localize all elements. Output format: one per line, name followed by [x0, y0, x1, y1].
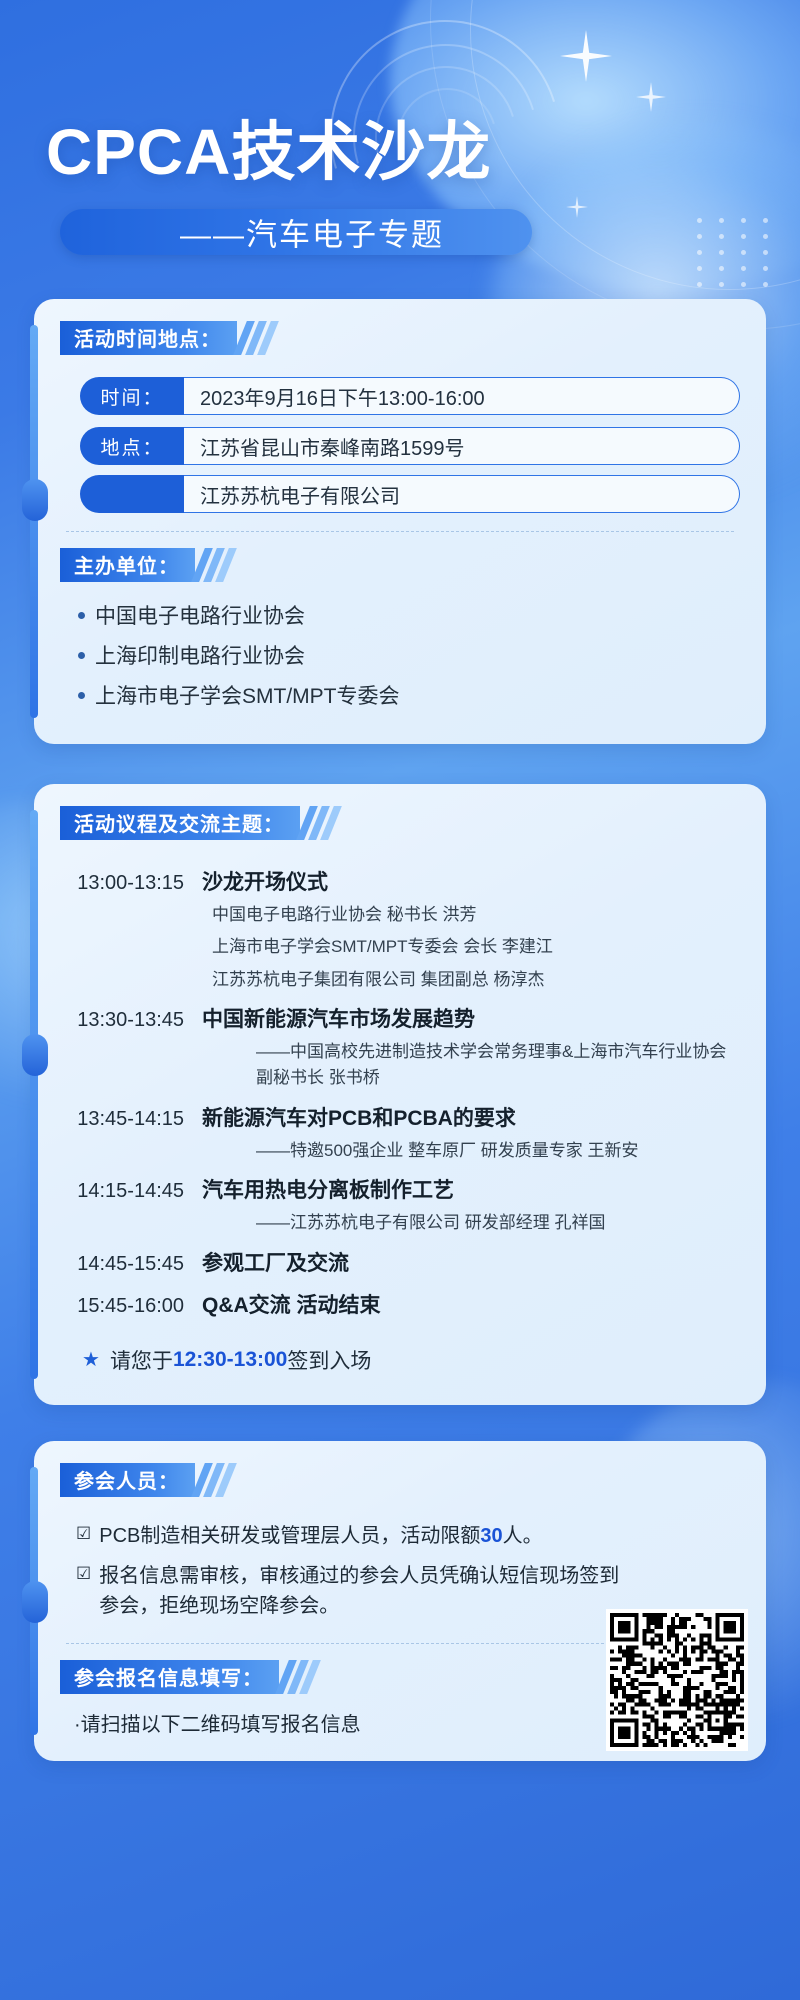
field-row-place: 地点： 江苏省昆山市秦峰南路1599号: [80, 427, 740, 465]
agenda-time: 14:45-15:45: [60, 1253, 202, 1276]
slash-decoration-icon: [240, 321, 276, 355]
card-knob: [22, 479, 48, 521]
agenda-title: 中国新能源汽车市场发展趋势: [202, 1003, 475, 1033]
slash-decoration-icon: [282, 1660, 318, 1694]
poster-root: CPCA技术沙龙 ——汽车电子专题 活动时间地点： 时间： 2023年9月16日…: [0, 0, 800, 2000]
agenda-list: 13:00-13:15 沙龙开场仪式 中国电子电路行业协会 秘书长 洪芳 上海市…: [60, 866, 740, 1318]
field-label-place: 地点：: [80, 427, 184, 465]
attendee-limit: 30: [480, 1525, 502, 1547]
field-row-time: 时间： 2023年9月16日下午13:00-16:00: [80, 377, 740, 415]
bullet-icon: [78, 692, 85, 699]
slash-decoration-icon: [303, 806, 339, 840]
agenda-time: 15:45-16:00: [60, 1295, 202, 1318]
attendee-requirement: ☑ PCB制造相关研发或管理层人员，活动限额30人。: [76, 1521, 740, 1551]
section-header-organizer: 主办单位：: [60, 548, 234, 582]
agenda-time: 13:00-13:15: [60, 872, 202, 895]
signin-note: ★ 请您于 12:30-13:00 签到入场: [82, 1345, 740, 1375]
section-title-organizer: 主办单位：: [60, 548, 195, 582]
section-header-agenda: 活动议程及交流主题：: [60, 806, 339, 840]
attendee-text: PCB制造相关研发或管理层人员，活动限额: [99, 1525, 480, 1547]
section-header-attendee: 参会人员：: [60, 1463, 234, 1497]
organizer-name: 上海印制电路行业协会: [95, 640, 305, 670]
agenda-speaker: 上海市电子学会SMT/MPT专委会 会长 李建江: [60, 934, 740, 960]
bullet-icon: [78, 652, 85, 659]
agenda-title: Q&A交流 活动结束: [202, 1289, 381, 1319]
agenda-time: 14:15-14:45: [60, 1180, 202, 1203]
organizer-name: 上海市电子学会SMT/MPT专委会: [95, 680, 400, 710]
agenda-row: 14:45-15:45 参观工厂及交流: [60, 1247, 740, 1277]
section-title-register: 参会报名信息填写：: [60, 1660, 279, 1694]
signin-highlight: 12:30-13:00: [173, 1348, 287, 1372]
agenda-time: 13:45-14:15: [60, 1108, 202, 1131]
subtitle-band: ——汽车电子专题: [60, 209, 532, 255]
list-item: 上海印制电路行业协会: [74, 640, 740, 670]
qr-code[interactable]: [606, 1609, 748, 1751]
qr-code-image: [610, 1613, 744, 1747]
agenda-speaker: 中国电子电路行业协会 秘书长 洪芳: [60, 902, 740, 928]
poster-header: CPCA技术沙龙 ——汽车电子专题: [0, 0, 800, 255]
list-item: 上海市电子学会SMT/MPT专委会: [74, 680, 740, 710]
card-knob: [22, 1034, 48, 1076]
agenda-speaker: ——江苏苏杭电子有限公司 研发部经理 孔祥国: [60, 1210, 740, 1236]
attendee-text: 报名信息需审核，审核通过的参会人员凭确认短信现场签到参会，拒绝现场空降参会。: [99, 1561, 619, 1621]
agenda-title: 沙龙开场仪式: [202, 866, 328, 896]
agenda-speaker: 江苏苏杭电子集团有限公司 集团副总 杨淳杰: [60, 967, 740, 993]
agenda-row: 13:30-13:45 中国新能源汽车市场发展趋势: [60, 1003, 740, 1033]
agenda-title: 新能源汽车对PCB和PCBA的要求: [202, 1102, 516, 1132]
section-header-time-place: 活动时间地点：: [60, 321, 276, 355]
page-subtitle: ——汽车电子专题: [180, 210, 444, 255]
check-icon: ☑: [76, 1561, 91, 1621]
section-title: 活动时间地点：: [60, 321, 237, 355]
agenda-row: 14:15-14:45 汽车用热电分离板制作工艺: [60, 1174, 740, 1204]
star-icon: ★: [82, 1347, 100, 1372]
signin-suffix: 签到入场: [287, 1345, 371, 1375]
agenda-speaker: ——特邀500强企业 整车原厂 研发质量专家 王新安: [60, 1138, 740, 1164]
agenda-title: 汽车用热电分离板制作工艺: [202, 1174, 454, 1204]
section-title-agenda: 活动议程及交流主题：: [60, 806, 300, 840]
agenda-row: 13:00-13:15 沙龙开场仪式: [60, 866, 740, 896]
section-title-attendee: 参会人员：: [60, 1463, 195, 1497]
agenda-card: 活动议程及交流主题： 13:00-13:15 沙龙开场仪式 中国电子电路行业协会…: [34, 784, 766, 1404]
section-header-register: 参会报名信息填写：: [60, 1660, 318, 1694]
check-icon: ☑: [76, 1521, 91, 1551]
agenda-speaker: ——中国高校先进制造技术学会常务理事&上海市汽车行业协会 副秘书长 张书桥: [60, 1039, 740, 1092]
field-value-place-2: 江苏苏杭电子有限公司: [184, 475, 740, 513]
divider: [66, 531, 734, 532]
field-label-place-2: [80, 475, 184, 513]
signin-prefix: 请您于: [110, 1345, 173, 1375]
page-title: CPCA技术沙龙: [0, 118, 800, 187]
slash-decoration-icon: [198, 548, 234, 582]
organizer-name: 中国电子电路行业协会: [95, 600, 305, 630]
organizer-list: 中国电子电路行业协会 上海印制电路行业协会 上海市电子学会SMT/MPT专委会: [74, 600, 740, 710]
agenda-row: 13:45-14:15 新能源汽车对PCB和PCBA的要求: [60, 1102, 740, 1132]
agenda-row: 15:45-16:00 Q&A交流 活动结束: [60, 1289, 740, 1319]
event-info-card: 活动时间地点： 时间： 2023年9月16日下午13:00-16:00 地点： …: [34, 299, 766, 744]
field-row-place-2: 江苏苏杭电子有限公司: [80, 475, 740, 513]
field-value-place: 江苏省昆山市秦峰南路1599号: [184, 427, 740, 465]
agenda-title: 参观工厂及交流: [202, 1247, 349, 1277]
list-item: 中国电子电路行业协会: [74, 600, 740, 630]
agenda-time: 13:30-13:45: [60, 1009, 202, 1032]
slash-decoration-icon: [198, 1463, 234, 1497]
attendee-text-after: 人。: [503, 1525, 543, 1547]
card-knob: [22, 1581, 48, 1623]
field-label-time: 时间：: [80, 377, 184, 415]
bullet-icon: [78, 612, 85, 619]
field-value-time: 2023年9月16日下午13:00-16:00: [184, 377, 740, 415]
attendee-card: 参会人员： ☑ PCB制造相关研发或管理层人员，活动限额30人。 ☑ 报名信息需…: [34, 1441, 766, 1761]
